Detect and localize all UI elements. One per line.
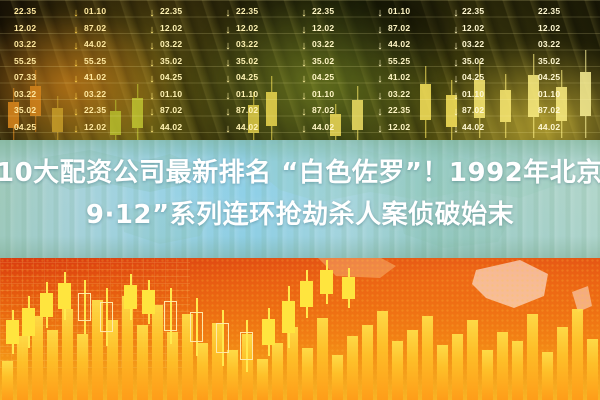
arrow-down-icon: ↓ xyxy=(453,105,459,122)
arrow-down-icon: ↓ xyxy=(225,72,231,89)
ticker-value: 87.02 xyxy=(84,20,150,37)
arrow-down-icon: ↓ xyxy=(453,122,459,139)
candlestick xyxy=(6,310,19,354)
arrow-down-icon: ↓ xyxy=(301,89,307,106)
arrow-down-icon: ↓ xyxy=(73,89,79,106)
ticker-value: 01.10 xyxy=(388,3,454,20)
candle-body xyxy=(320,270,333,294)
arrow-down-icon: ↓ xyxy=(149,23,155,40)
ticker-value: 12.02 xyxy=(538,20,600,37)
candlestick xyxy=(22,296,35,348)
bar xyxy=(332,355,343,400)
ticker-value: 44.02 xyxy=(236,119,302,136)
candle-body xyxy=(124,285,137,309)
arrow-column: ↓↓↓↓↓↓↓↓↓↓ xyxy=(70,0,82,150)
bar xyxy=(572,309,583,400)
ticker-value: 01.10 xyxy=(84,3,150,20)
candle-body xyxy=(342,277,355,299)
arrow-down-icon: ↓ xyxy=(377,122,383,139)
ticker-value: 44.02 xyxy=(388,36,454,53)
arrow-down-icon: ↓ xyxy=(377,39,383,56)
ticker-value: 03.22 xyxy=(312,36,378,53)
candle-body xyxy=(262,319,275,345)
bar xyxy=(542,352,553,400)
bar xyxy=(257,359,268,400)
arrow-down-icon: ↓ xyxy=(301,23,307,40)
candle-body xyxy=(22,308,35,336)
headline: 10大配资公司最新排名 “白色佐罗”！1992年北京“ 9·12”系列连环抢劫杀… xyxy=(0,152,600,236)
arrow-down-icon: ↓ xyxy=(225,56,231,73)
arrow-down-icon: ↓ xyxy=(149,39,155,56)
candlestick xyxy=(124,274,137,320)
ticker-value: 22.35 xyxy=(160,3,226,20)
ticker-value: 35.02 xyxy=(236,53,302,70)
bar xyxy=(482,350,493,400)
candle-body xyxy=(216,323,229,353)
top-ticker-band: 22.3512.0203.2255.2507.3303.2235.0204.25… xyxy=(0,0,600,150)
arrow-down-icon: ↓ xyxy=(225,6,231,23)
arrow-down-icon: ↓ xyxy=(377,56,383,73)
ticker-value: 04.25 xyxy=(462,69,528,86)
ticker-value: 12.02 xyxy=(462,20,528,37)
bar xyxy=(557,327,568,400)
candlestick xyxy=(164,288,177,344)
ticker-value: 04.25 xyxy=(160,69,226,86)
arrow-down-icon: ↓ xyxy=(225,23,231,40)
arrow-down-icon: ↓ xyxy=(149,6,155,23)
bar xyxy=(587,339,598,400)
ticker-value: 35.02 xyxy=(538,53,600,70)
candlestick xyxy=(282,286,295,348)
ticker-value: 87.02 xyxy=(538,102,600,119)
bar xyxy=(317,318,328,400)
ticker-value: 01.10 xyxy=(462,86,528,103)
arrow-down-icon: ↓ xyxy=(453,23,459,40)
candlestick xyxy=(190,298,203,356)
arrow-down-icon: ↓ xyxy=(149,72,155,89)
candle-body xyxy=(240,332,253,360)
ticker-value: 03.22 xyxy=(160,36,226,53)
bar xyxy=(302,348,313,400)
ticker-value: 12.02 xyxy=(160,20,226,37)
candlestick xyxy=(40,282,53,328)
candlestick xyxy=(320,260,333,304)
bar xyxy=(527,314,538,400)
ticker-value: 04.25 xyxy=(236,69,302,86)
bar xyxy=(407,330,418,400)
ticker-column: 01.1087.0244.0255.2541.0203.2222.3512.02… xyxy=(388,0,454,150)
arrow-down-icon: ↓ xyxy=(73,72,79,89)
ticker-value: 22.35 xyxy=(538,3,600,20)
ticker-value: 22.35 xyxy=(236,3,302,20)
arrow-down-icon: ↓ xyxy=(149,89,155,106)
candle-body xyxy=(6,320,19,344)
ticker-column: 22.3512.0203.2235.0204.2501.1087.0244.02… xyxy=(312,0,378,150)
ticker-value: 22.35 xyxy=(312,3,378,20)
ticker-value: 12.02 xyxy=(312,20,378,37)
arrow-down-icon: ↓ xyxy=(301,56,307,73)
candle-body xyxy=(190,312,203,342)
ticker-value: 41.02 xyxy=(84,69,150,86)
bar xyxy=(512,341,523,400)
ticker-value: 01.10 xyxy=(160,86,226,103)
arrow-down-icon: ↓ xyxy=(73,122,79,139)
bar xyxy=(452,334,463,400)
arrow-down-icon: ↓ xyxy=(73,23,79,40)
ticker-column: 22.3512.0203.2235.0204.2501.1087.0244.02… xyxy=(160,0,226,150)
arrow-down-icon: ↓ xyxy=(301,72,307,89)
ticker-value: 01.10 xyxy=(312,86,378,103)
ticker-value: 44.02 xyxy=(160,119,226,136)
arrow-down-icon: ↓ xyxy=(453,56,459,73)
ticker-value: 01.10 xyxy=(236,86,302,103)
arrow-down-icon: ↓ xyxy=(377,23,383,40)
candlestick xyxy=(58,272,71,320)
ticker-value: 12.02 xyxy=(388,119,454,136)
bar xyxy=(47,330,58,400)
bar xyxy=(62,309,73,400)
candle-body xyxy=(164,301,177,331)
arrow-down-icon: ↓ xyxy=(73,56,79,73)
ticker-column: 22.3512.0203.2235.0204.2501.1087.0244.02… xyxy=(462,0,528,150)
candlestick xyxy=(240,320,253,372)
bottom-market-band xyxy=(0,258,600,400)
bar xyxy=(422,316,433,400)
ticker-value: 03.22 xyxy=(84,86,150,103)
arrow-column: ↓↓↓↓↓↓↓↓↓↓ xyxy=(298,0,310,150)
ticker-value: 22.35 xyxy=(388,102,454,119)
arrow-down-icon: ↓ xyxy=(149,105,155,122)
ticker-value: 87.02 xyxy=(236,102,302,119)
ticker-value: 35.02 xyxy=(160,53,226,70)
bar xyxy=(392,341,403,400)
candlestick xyxy=(342,268,355,308)
ticker-value: 03.22 xyxy=(236,36,302,53)
ticker-value: 41.02 xyxy=(388,69,454,86)
ticker-value: 55.25 xyxy=(84,53,150,70)
bar xyxy=(467,320,478,400)
arrow-down-icon: ↓ xyxy=(73,6,79,23)
bar xyxy=(347,336,358,400)
ticker-value: 01.10 xyxy=(538,86,600,103)
arrow-down-icon: ↓ xyxy=(453,89,459,106)
ticker-value: 44.02 xyxy=(312,119,378,136)
ticker-value: 87.02 xyxy=(388,20,454,37)
arrow-down-icon: ↓ xyxy=(301,122,307,139)
arrow-down-icon: ↓ xyxy=(73,39,79,56)
arrow-column: ↓↓↓↓↓↓↓↓↓↓ xyxy=(146,0,158,150)
ticker-value: 44.02 xyxy=(84,36,150,53)
bar xyxy=(377,311,388,400)
ticker-value: 35.02 xyxy=(312,53,378,70)
candlestick xyxy=(216,310,229,366)
arrow-down-icon: ↓ xyxy=(149,122,155,139)
ticker-value: 12.02 xyxy=(84,119,150,136)
ticker-column: 01.1087.0244.0255.2541.0203.2222.3512.02… xyxy=(84,0,150,150)
arrow-down-icon: ↓ xyxy=(453,72,459,89)
candle-body xyxy=(78,293,91,321)
ticker-value: 44.02 xyxy=(538,119,600,136)
arrow-down-icon: ↓ xyxy=(377,105,383,122)
arrow-down-icon: ↓ xyxy=(377,6,383,23)
candlestick xyxy=(262,308,275,356)
candlestick xyxy=(100,288,113,346)
bar xyxy=(2,361,13,400)
ticker-value: 22.35 xyxy=(462,3,528,20)
arrow-down-icon: ↓ xyxy=(225,105,231,122)
arrow-down-icon: ↓ xyxy=(453,6,459,23)
ticker-value: 04.25 xyxy=(312,69,378,86)
candlestick xyxy=(142,280,155,324)
banner-image: 22.3512.0203.2255.2507.3303.2235.0204.25… xyxy=(0,0,600,400)
arrow-down-icon: ↓ xyxy=(377,89,383,106)
ticker-value: 44.02 xyxy=(462,119,528,136)
ticker-value: 04.25 xyxy=(538,69,600,86)
arrow-column: ↓↓↓↓↓↓↓↓↓↓ xyxy=(450,0,462,150)
candle-body xyxy=(40,293,53,317)
ticker-value: 35.02 xyxy=(462,53,528,70)
candle-body xyxy=(142,290,155,314)
bar xyxy=(497,332,508,400)
arrow-column: ↓↓↓↓↓↓↓↓↓↓ xyxy=(222,0,234,150)
ticker-column: 22.3512.0203.2235.0204.2501.1087.0244.02… xyxy=(538,0,600,150)
bar xyxy=(362,325,373,400)
candlestick xyxy=(300,270,313,318)
ticker-value: 87.02 xyxy=(312,102,378,119)
arrow-column: ↓↓↓↓↓↓↓↓↓↓ xyxy=(374,0,386,150)
ticker-value: 87.02 xyxy=(160,102,226,119)
arrow-down-icon: ↓ xyxy=(453,39,459,56)
arrow-down-icon: ↓ xyxy=(73,105,79,122)
bar xyxy=(77,334,88,400)
candle-body xyxy=(100,302,113,332)
ticker-value: 03.22 xyxy=(462,36,528,53)
ticker-value: 87.02 xyxy=(462,102,528,119)
arrow-down-icon: ↓ xyxy=(301,105,307,122)
ticker-value: 03.22 xyxy=(538,36,600,53)
candle-body xyxy=(58,283,71,309)
arrow-down-icon: ↓ xyxy=(225,39,231,56)
candlestick xyxy=(78,280,91,334)
ticker-value: 55.25 xyxy=(388,53,454,70)
ticker-value: 03.22 xyxy=(388,86,454,103)
headline-line-1: 10大配资公司最新排名 “白色佐罗”！1992年北京“ xyxy=(0,152,600,194)
bar xyxy=(437,345,448,400)
bar xyxy=(137,325,148,400)
arrow-down-icon: ↓ xyxy=(225,122,231,139)
ticker-value: 12.02 xyxy=(236,20,302,37)
candle-body xyxy=(300,281,313,307)
ticker-value: 22.35 xyxy=(84,102,150,119)
arrow-down-icon: ↓ xyxy=(301,6,307,23)
arrow-down-icon: ↓ xyxy=(301,39,307,56)
ticker-column: 22.3512.0203.2235.0204.2501.1087.0244.02… xyxy=(236,0,302,150)
headline-line-2: 9·12”系列连环抢劫杀人案侦破始末 xyxy=(0,194,600,236)
arrow-down-icon: ↓ xyxy=(149,56,155,73)
arrow-down-icon: ↓ xyxy=(225,89,231,106)
candle-body xyxy=(282,301,295,333)
arrow-down-icon: ↓ xyxy=(377,72,383,89)
